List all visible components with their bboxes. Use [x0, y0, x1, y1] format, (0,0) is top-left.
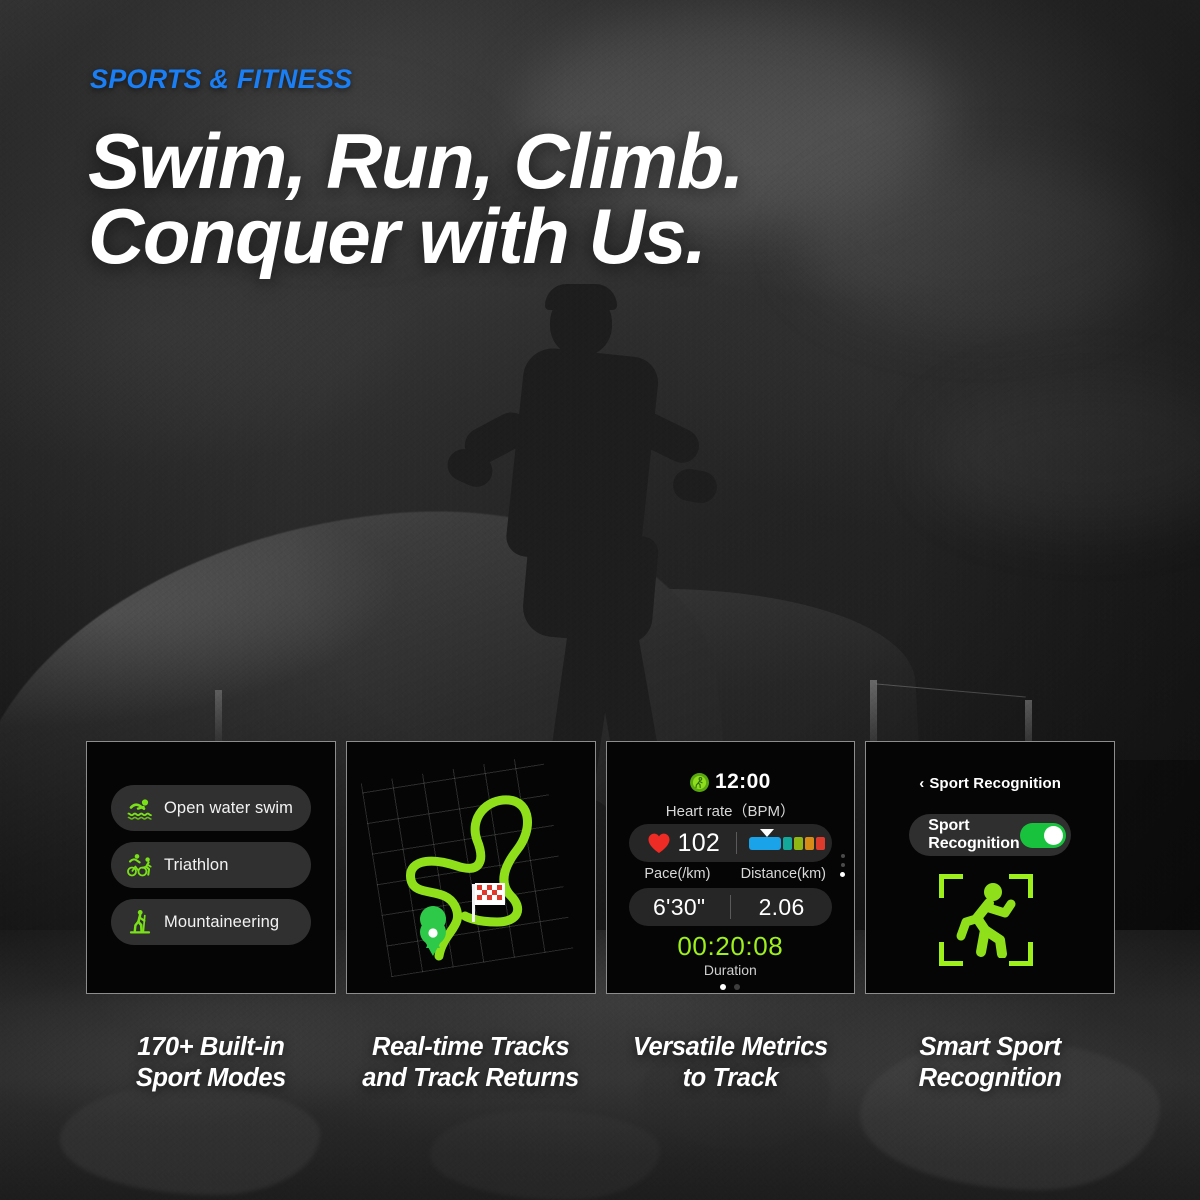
setting-label: Sport Recognition — [928, 817, 1019, 853]
sport-mode-list: Open water swim — [111, 785, 311, 945]
caption-row: 170+ Built-in Sport Modes Real-time Trac… — [86, 1032, 1115, 1094]
heart-icon — [647, 832, 671, 854]
card-real-time-tracks[interactable] — [346, 741, 596, 994]
zone-5-segment — [816, 837, 825, 850]
screen-title: Sport Recognition — [929, 775, 1061, 792]
page-dot — [734, 984, 740, 990]
heart-rate-zone-bar — [749, 837, 825, 850]
page-title: Swim, Run, Climb. Conquer with Us. — [88, 124, 948, 274]
scroll-dot — [841, 854, 845, 858]
caption-smart-sport-recognition: Smart Sport Recognition — [865, 1032, 1115, 1094]
scroll-dot-active — [840, 872, 845, 877]
pace-label: Pace(/km) — [625, 866, 731, 882]
sport-mode-label: Open water swim — [164, 799, 293, 818]
scroll-indicator[interactable] — [840, 854, 845, 877]
distance-value: 2.06 — [731, 894, 832, 921]
sport-recognition-setting-row[interactable]: Sport Recognition — [909, 814, 1071, 856]
heart-rate-label: Heart rate（BPM） — [607, 800, 855, 821]
caption-versatile-metrics: Versatile Metrics to Track — [606, 1032, 856, 1094]
sport-mode-label: Triathlon — [164, 856, 228, 875]
caption-line: 170+ Built-in — [86, 1032, 336, 1063]
caption-line: Sport Modes — [86, 1063, 336, 1094]
distance-label: Distance(km) — [730, 866, 836, 882]
detection-frame — [939, 874, 1033, 966]
caption-sport-modes: 170+ Built-in Sport Modes — [86, 1032, 336, 1094]
caption-line: Smart Sport — [865, 1032, 1115, 1063]
heart-rate-pill[interactable]: 102 — [629, 824, 833, 862]
pace-distance-labels: Pace(/km) Distance(km) — [625, 866, 837, 882]
list-item[interactable]: Mountaineering — [111, 899, 311, 945]
caption-line: and Track Returns — [346, 1063, 596, 1094]
heart-rate-value: 102 — [678, 829, 721, 858]
clock-value: 12:00 — [715, 770, 771, 794]
card-sport-modes[interactable]: Open water swim — [86, 741, 336, 994]
screen-header[interactable]: ‹Sport Recognition — [866, 775, 1114, 792]
chevron-left-icon[interactable]: ‹ — [919, 775, 924, 792]
card-versatile-metrics[interactable]: 12:00 Heart rate（BPM） 102 — [606, 741, 856, 994]
pace-distance-pill[interactable]: 6'30" 2.06 — [629, 888, 833, 926]
duration-value: 00:20:08 — [607, 931, 855, 962]
eyebrow-label: SPORTS & FITNESS — [90, 64, 352, 95]
watch-clock-row: 12:00 — [607, 770, 855, 794]
zone-2-segment — [783, 837, 792, 850]
zone-marker-icon — [760, 829, 774, 837]
card-smart-sport-recognition[interactable]: ‹Sport Recognition Sport Recognition — [865, 741, 1115, 994]
mountaineering-icon — [127, 909, 153, 935]
page-dot-active — [720, 984, 726, 990]
feature-card-row: Open water swim — [86, 741, 1115, 994]
divider — [736, 832, 737, 854]
sport-mode-label: Mountaineering — [164, 913, 279, 932]
page-indicator[interactable] — [607, 984, 855, 990]
zone-4-segment — [805, 837, 814, 850]
open-water-swim-icon — [127, 795, 153, 821]
triathlon-icon — [127, 852, 153, 878]
duration-label: Duration — [607, 962, 855, 978]
toggle-knob — [1044, 826, 1063, 845]
scroll-dot — [841, 863, 845, 867]
sport-recognition-toggle[interactable] — [1020, 823, 1066, 848]
caption-line: to Track — [606, 1063, 856, 1094]
promo-banner: SPORTS & FITNESS Swim, Run, Climb. Conqu… — [0, 0, 1200, 1200]
headline-line-2: Conquer with Us. — [88, 199, 948, 274]
caption-line: Recognition — [865, 1063, 1115, 1094]
caption-line: Versatile Metrics — [606, 1032, 856, 1063]
running-badge-icon — [690, 773, 709, 792]
running-figure-icon — [955, 882, 1017, 963]
list-item[interactable]: Triathlon — [111, 842, 311, 888]
list-item[interactable]: Open water swim — [111, 785, 311, 831]
zone-1-segment — [749, 837, 781, 850]
caption-real-time-tracks: Real-time Tracks and Track Returns — [346, 1032, 596, 1094]
pace-value: 6'30" — [629, 894, 730, 921]
gps-route-map[interactable] — [369, 756, 579, 986]
headline-line-1: Swim, Run, Climb. — [88, 124, 948, 199]
caption-line: Real-time Tracks — [346, 1032, 596, 1063]
zone-3-segment — [794, 837, 803, 850]
